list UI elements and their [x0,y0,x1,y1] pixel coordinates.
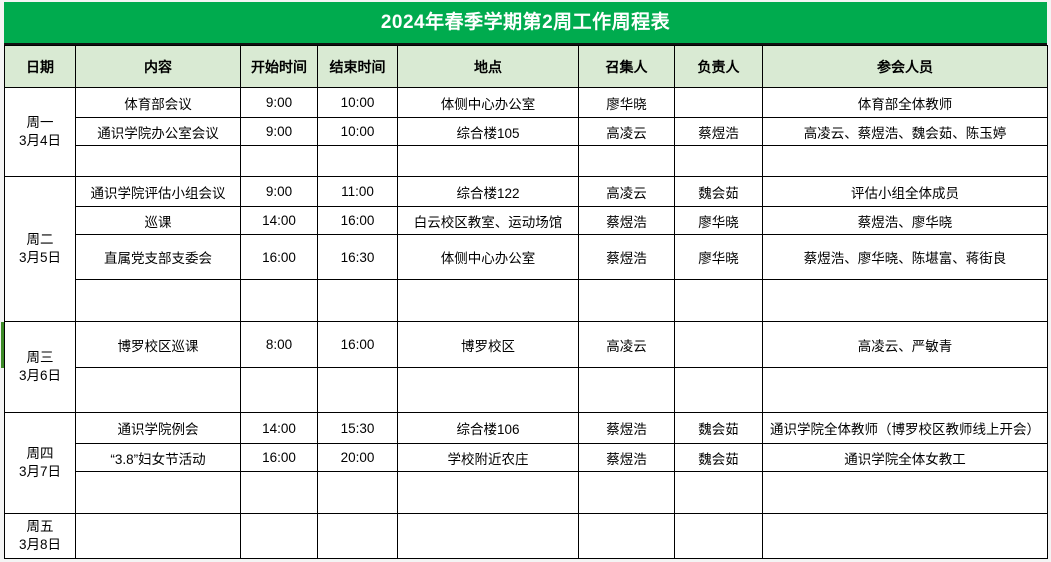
cell-content[interactable]: 直属党支部支委会 [76,235,241,280]
cell-owner[interactable] [675,146,763,177]
cell-owner[interactable]: 蔡煜浩 [675,118,763,146]
cell-members[interactable]: 评估小组全体成员 [763,177,1048,207]
cell-end[interactable]: 16:00 [318,322,398,368]
cell-end[interactable]: 11:00 [318,177,398,207]
cell-place[interactable]: 体侧中心办公室 [398,235,579,280]
column-header-members[interactable]: 参会人员 [763,46,1048,88]
cell-convener[interactable]: 蔡煜浩 [579,444,675,472]
cell-owner[interactable] [675,472,763,514]
cell-owner[interactable]: 魏会茹 [675,444,763,472]
cell-end[interactable] [318,514,398,559]
cell-owner[interactable] [675,322,763,368]
cell-start[interactable]: 16:00 [241,444,318,472]
cell-convener[interactable] [579,472,675,514]
cell-start[interactable]: 14:00 [241,207,318,235]
cell-end[interactable]: 20:00 [318,444,398,472]
table-row[interactable]: 巡课 14:00 16:00 白云校区教室、运动场馆 蔡煜浩 廖华晓 蔡煜浩、廖… [5,207,1048,235]
column-header-date[interactable]: 日期 [5,46,76,88]
date-day: 3月5日 [19,250,61,265]
table-row[interactable] [5,146,1048,177]
cell-content[interactable] [76,368,241,413]
table-row[interactable]: 周四 3月7日 通识学院例会 14:00 15:30 综合楼106 蔡煜浩 魏会… [5,413,1048,444]
cell-end[interactable] [318,146,398,177]
table-header-row: 日期 内容 开始时间 结束时间 地点 召集人 负责人 参会人员 [5,46,1048,88]
cell-end[interactable] [318,472,398,514]
date-day: 3月8日 [19,537,61,552]
cell-convener[interactable]: 高凌云 [579,177,675,207]
table-row[interactable]: 周三 3月6日 博罗校区巡课 8:00 16:00 博罗校区 高凌云 高凌云、严… [5,322,1048,368]
cell-start[interactable] [241,472,318,514]
cell-place[interactable]: 博罗校区 [398,322,579,368]
cell-convener[interactable] [579,280,675,322]
cell-place[interactable]: 综合楼122 [398,177,579,207]
cell-content[interactable]: 体育部会议 [76,88,241,118]
cell-end[interactable]: 16:00 [318,207,398,235]
cell-owner[interactable] [675,368,763,413]
document-title-banner: 2024年春季学期第2周工作周程表 [4,2,1047,45]
cell-start[interactable]: 9:00 [241,118,318,146]
table-row[interactable]: 通识学院办公室会议 9:00 10:00 综合楼105 高凌云 蔡煜浩 高凌云、… [5,118,1048,146]
column-header-content[interactable]: 内容 [76,46,241,88]
cell-content[interactable]: 通识学院例会 [76,413,241,444]
cell-start[interactable]: 9:00 [241,88,318,118]
table-row[interactable]: “3.8”妇女节活动 16:00 20:00 学校附近农庄 蔡煜浩 魏会茹 通识… [5,444,1048,472]
cell-start[interactable]: 9:00 [241,177,318,207]
column-header-convener[interactable]: 召集人 [579,46,675,88]
date-weekday: 周一 [27,115,54,130]
cell-place[interactable]: 白云校区教室、运动场馆 [398,207,579,235]
cell-members[interactable] [763,146,1048,177]
cell-owner[interactable]: 魏会茹 [675,413,763,444]
cell-owner[interactable]: 廖华晓 [675,235,763,280]
cell-start[interactable] [241,280,318,322]
cell-place[interactable] [398,280,579,322]
cell-members[interactable] [763,368,1048,413]
cell-content[interactable] [76,280,241,322]
cell-content[interactable]: 巡课 [76,207,241,235]
date-day: 3月4日 [19,133,61,148]
cell-convener[interactable]: 蔡煜浩 [579,413,675,444]
cell-content[interactable]: “3.8”妇女节活动 [76,444,241,472]
cell-members[interactable]: 体育部全体教师 [763,88,1048,118]
cell-convener[interactable] [579,368,675,413]
column-header-owner[interactable]: 负责人 [675,46,763,88]
cell-owner[interactable] [675,514,763,559]
cell-owner[interactable] [675,280,763,322]
cell-members[interactable] [763,514,1048,559]
cell-start[interactable]: 16:00 [241,235,318,280]
table-row[interactable]: 周五 3月8日 [5,514,1048,559]
date-weekday: 周二 [27,232,54,247]
cell-owner[interactable]: 廖华晓 [675,207,763,235]
date-cell-friday[interactable]: 周五 3月8日 [5,514,76,559]
cell-members[interactable] [763,472,1048,514]
column-header-start[interactable]: 开始时间 [241,46,318,88]
cell-members[interactable]: 高凌云、蔡煜浩、魏会茹、陈玉婷 [763,118,1048,146]
cell-members[interactable]: 蔡煜浩、廖华晓、陈堪富、蒋街良 [763,235,1048,280]
cell-content[interactable]: 博罗校区巡课 [76,322,241,368]
cell-place[interactable] [398,368,579,413]
cell-content[interactable]: 通识学院办公室会议 [76,118,241,146]
date-weekday: 周五 [27,519,54,534]
cell-place[interactable]: 综合楼106 [398,413,579,444]
spreadsheet-canvas: 2024年春季学期第2周工作周程表 日期 内容 开始时间 结束时间 地点 召集人… [0,0,1051,562]
cell-owner[interactable]: 魏会茹 [675,177,763,207]
cell-convener[interactable]: 高凌云 [579,322,675,368]
table-row[interactable] [5,368,1048,413]
date-weekday: 周四 [27,446,54,461]
date-cell-monday[interactable]: 周一 3月4日 [5,88,76,177]
cell-end[interactable]: 10:00 [318,118,398,146]
cell-place[interactable] [398,514,579,559]
cell-start[interactable]: 14:00 [241,413,318,444]
cell-end[interactable] [318,368,398,413]
cell-convener[interactable]: 高凌云 [579,118,675,146]
date-day: 3月6日 [19,368,61,383]
cell-convener[interactable] [579,514,675,559]
cell-end[interactable]: 10:00 [318,88,398,118]
cell-start[interactable] [241,368,318,413]
page-title: 2024年春季学期第2周工作周程表 [381,13,670,32]
cell-content[interactable] [76,514,241,559]
cell-members[interactable] [763,280,1048,322]
cell-start[interactable]: 8:00 [241,322,318,368]
date-cell-thursday[interactable]: 周四 3月7日 [5,413,76,514]
cell-start[interactable] [241,146,318,177]
cell-members[interactable]: 通识学院全体女教工 [763,444,1048,472]
cell-convener[interactable] [579,146,675,177]
table-row[interactable]: 直属党支部支委会 16:00 16:30 体侧中心办公室 蔡煜浩 廖华晓 蔡煜浩… [5,235,1048,280]
cell-start[interactable] [241,514,318,559]
cell-content[interactable] [76,472,241,514]
table-row[interactable] [5,280,1048,322]
cell-members[interactable]: 高凌云、严敏青 [763,322,1048,368]
cell-place[interactable] [398,472,579,514]
cell-convener[interactable]: 蔡煜浩 [579,235,675,280]
cell-convener[interactable]: 廖华晓 [579,88,675,118]
date-weekday: 周三 [27,350,54,365]
column-header-place[interactable]: 地点 [398,46,579,88]
cell-convener[interactable]: 蔡煜浩 [579,207,675,235]
table-row[interactable]: 周一 3月4日 体育部会议 9:00 10:00 体侧中心办公室 廖华晓 体育部… [5,88,1048,118]
cell-end[interactable]: 16:30 [318,235,398,280]
date-day: 3月7日 [19,464,61,479]
cell-members[interactable]: 通识学院全体教师（博罗校区教师线上开会） [763,413,1048,444]
cell-place[interactable]: 综合楼105 [398,118,579,146]
cell-content[interactable] [76,146,241,177]
cell-place[interactable] [398,146,579,177]
table-body: 周一 3月4日 体育部会议 9:00 10:00 体侧中心办公室 廖华晓 体育部… [5,88,1048,559]
table-row[interactable] [5,472,1048,514]
date-cell-tuesday[interactable]: 周二 3月5日 [5,177,76,322]
cell-members[interactable]: 蔡煜浩、廖华晓 [763,207,1048,235]
weekly-schedule-table: 日期 内容 开始时间 结束时间 地点 召集人 负责人 参会人员 周一 3月4日 … [4,45,1048,559]
cell-end[interactable]: 15:30 [318,413,398,444]
cell-end[interactable] [318,280,398,322]
cell-content[interactable]: 通识学院评估小组会议 [76,177,241,207]
date-cell-wednesday[interactable]: 周三 3月6日 [5,322,76,413]
column-header-end[interactable]: 结束时间 [318,46,398,88]
cell-place[interactable]: 体侧中心办公室 [398,88,579,118]
table-row[interactable]: 周二 3月5日 通识学院评估小组会议 9:00 11:00 综合楼122 高凌云… [5,177,1048,207]
cell-owner[interactable] [675,88,763,118]
cell-place[interactable]: 学校附近农庄 [398,444,579,472]
